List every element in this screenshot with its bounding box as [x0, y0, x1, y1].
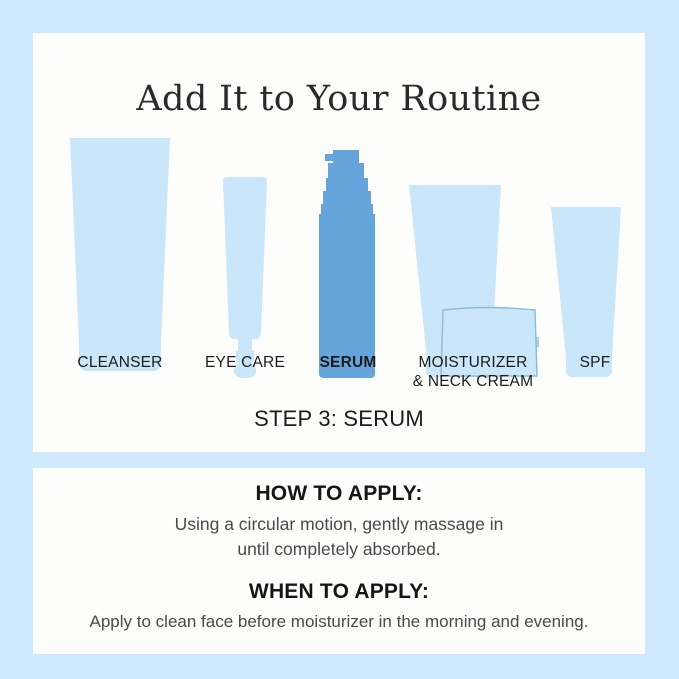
eye-care-tube-icon: [207, 175, 283, 378]
product-label-serum: SERUM: [300, 353, 396, 372]
product-row: [33, 103, 645, 378]
product-serum[interactable]: [314, 150, 380, 378]
product-eyecare[interactable]: [207, 175, 283, 378]
product-label-spf: SPF: [558, 353, 632, 372]
how-to-apply-heading: HOW TO APPLY:: [33, 482, 645, 506]
serum-pump-bottle-icon: [314, 150, 380, 378]
cleanser-tube-icon: [60, 135, 180, 378]
when-to-apply-heading: WHEN TO APPLY:: [33, 580, 645, 604]
product-moisturizer[interactable]: [403, 182, 543, 378]
routine-card: Add It to Your Routine: [33, 33, 645, 452]
how-to-apply-line-1: Using a circular motion, gently massage …: [33, 512, 645, 537]
spf-tube-icon: [548, 203, 624, 378]
when-to-apply-line-1: Apply to clean face before moisturizer i…: [33, 609, 645, 634]
product-label-moisturizer: MOISTURIZER & NECK CREAM: [388, 353, 558, 391]
apply-instructions-content: HOW TO APPLY: Using a circular motion, g…: [33, 482, 645, 634]
product-cleanser[interactable]: [60, 135, 180, 378]
how-to-apply-line-2: until completely absorbed.: [33, 537, 645, 562]
moisturizer-tube-and-jar-icon: [403, 182, 543, 378]
product-spf[interactable]: [548, 203, 624, 378]
apply-instructions-card: HOW TO APPLY: Using a circular motion, g…: [33, 468, 645, 654]
when-to-apply-block: WHEN TO APPLY: Apply to clean face befor…: [33, 580, 645, 634]
product-label-cleanser: CLEANSER: [50, 353, 190, 372]
how-to-apply-body: Using a circular motion, gently massage …: [33, 512, 645, 562]
how-to-apply-block: HOW TO APPLY: Using a circular motion, g…: [33, 482, 645, 562]
product-label-moisturizer-line1: MOISTURIZER: [419, 354, 528, 371]
product-label-eyecare: EYE CARE: [185, 353, 305, 372]
product-label-moisturizer-line2: & NECK CREAM: [413, 373, 533, 390]
infographic-page: Add It to Your Routine: [0, 0, 679, 679]
step-caption: STEP 3: SERUM: [33, 406, 645, 432]
when-to-apply-body: Apply to clean face before moisturizer i…: [33, 609, 645, 634]
